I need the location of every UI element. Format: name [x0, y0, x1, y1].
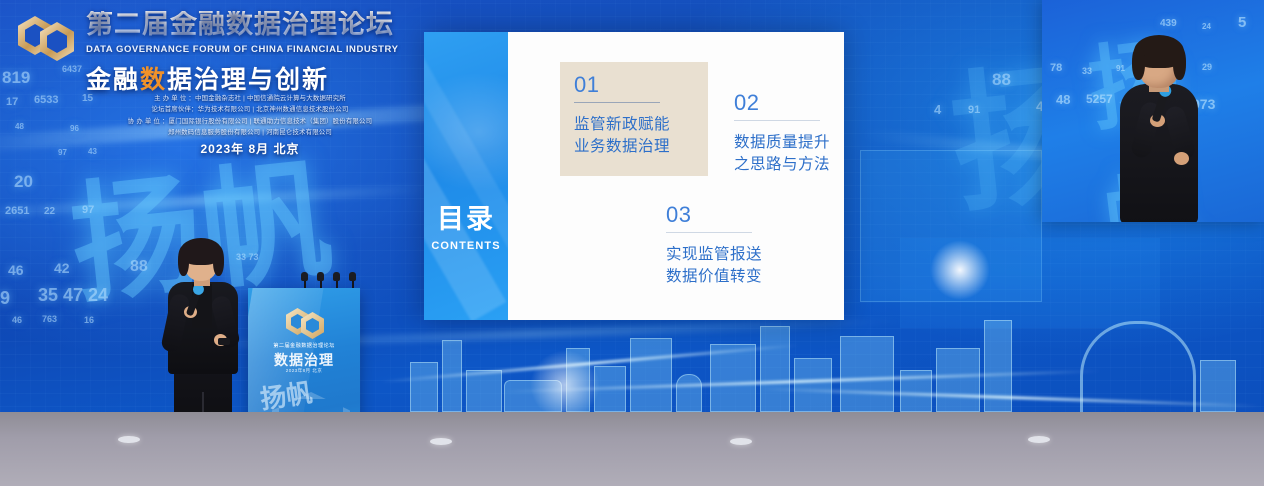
video-backdrop-number: 24	[1202, 22, 1211, 31]
video-backdrop-number: 5	[1238, 14, 1246, 31]
backdrop-number: 46	[12, 315, 22, 325]
live-speaker-video-feed: 扬帆 43924578339129485257973	[1042, 0, 1264, 222]
backdrop-number: 97	[82, 204, 94, 216]
backdrop-number: 763	[42, 314, 57, 324]
forum-theme: 金融数据治理与创新	[86, 60, 329, 96]
podium-forum-logo-icon	[286, 304, 326, 338]
backdrop-number: 88	[130, 258, 148, 276]
forum-key-visual-banner: 第二届金融数据治理论坛 DATA GOVERNANCE FORUM OF CHI…	[0, 0, 420, 175]
agenda-rule	[666, 232, 752, 233]
forum-date-location: 2023年 8月 北京	[100, 140, 400, 157]
agenda-number-01: 01	[574, 74, 698, 96]
agenda-text-03: 实现监管报送数据价值转变	[666, 244, 802, 288]
podium-forum-title: 第二届金融数据治理论坛	[248, 342, 360, 349]
podium-big-text: 数据治理	[248, 350, 360, 370]
projected-slide: 目录 CONTENTS 01 监管新政赋能业务数据治理 02 数据质量提升之思路…	[424, 32, 844, 320]
video-backdrop-number: 48	[1056, 92, 1070, 107]
backdrop-number: 20	[14, 172, 33, 192]
video-backdrop-number: 439	[1160, 18, 1177, 29]
conference-stage-photo: 扬帆 扬帆 8196437176533154896974320265122974…	[0, 0, 1264, 486]
forum-credit-line: 协 办 单 位 ：厦门国际银行股份有限公司 | 联通助力信息技术（集团）股份有限…	[100, 116, 400, 127]
speaker-on-screen	[1116, 40, 1202, 222]
stage-floor	[0, 412, 1264, 486]
backdrop-number: 9	[0, 288, 10, 309]
backdrop-number: 4	[934, 102, 941, 117]
agenda-text-01: 监管新政赋能业务数据治理	[574, 114, 698, 158]
agenda-text-02: 数据质量提升之思路与方法	[734, 132, 844, 176]
forum-credit-line: 论坛首席伙伴：华为技术有限公司 | 北京神州数通信息技术股份公司	[100, 104, 400, 115]
forum-subtitle-en: DATA GOVERNANCE FORUM OF CHINA FINANCIAL…	[86, 44, 398, 55]
slide-agenda-item-02: 02 数据质量提升之思路与方法	[720, 80, 844, 194]
slide-section-panel: 目录 CONTENTS	[424, 32, 508, 320]
backdrop-number: 2651	[5, 205, 29, 217]
backdrop-number: 35 47 24	[38, 285, 108, 306]
backdrop-number: 91	[968, 104, 980, 116]
forum-credit-line: 郑州数码信息服务股份有限公司 | 河南昆仑技术有限公司	[100, 127, 400, 138]
forum-title: 第二届金融数据治理论坛	[86, 11, 394, 38]
podium-calligraphy: 扬帆	[258, 373, 315, 417]
forum-logo-icon	[18, 10, 80, 66]
forum-credit-lines: 主 办 单 位 ：中国金融杂志社 | 中国信通院云计算与大数据研究所论坛首席伙伴…	[100, 93, 400, 139]
backdrop-number: 22	[44, 206, 55, 217]
video-backdrop-number: 5257	[1086, 92, 1113, 106]
presentation-clicker	[218, 338, 230, 345]
lens-flare	[930, 240, 990, 300]
slide-section-title-cn: 目录	[424, 206, 508, 233]
video-backdrop-number: 33	[1082, 66, 1092, 76]
forum-theme-highlight: 数	[140, 66, 167, 94]
agenda-rule	[734, 120, 820, 121]
agenda-number-03: 03	[666, 204, 802, 226]
backdrop-number: 46	[8, 262, 24, 278]
forum-credit-line: 主 办 单 位 ：中国金融杂志社 | 中国信通院云计算与大数据研究所	[100, 93, 400, 104]
agenda-number-02: 02	[734, 92, 844, 114]
agenda-rule	[574, 102, 660, 103]
backdrop-number: 16	[84, 315, 94, 325]
video-backdrop-number: 78	[1050, 62, 1062, 74]
video-backdrop-number: 29	[1202, 62, 1212, 72]
slide-section-title-en: CONTENTS	[424, 240, 508, 252]
slide-agenda-item-03: 03 实现监管报送数据价值转变	[652, 192, 812, 306]
backdrop-number: 88	[992, 70, 1011, 90]
slide-agenda-item-01: 01 监管新政赋能业务数据治理	[560, 62, 708, 176]
backdrop-number: 42	[54, 260, 70, 276]
